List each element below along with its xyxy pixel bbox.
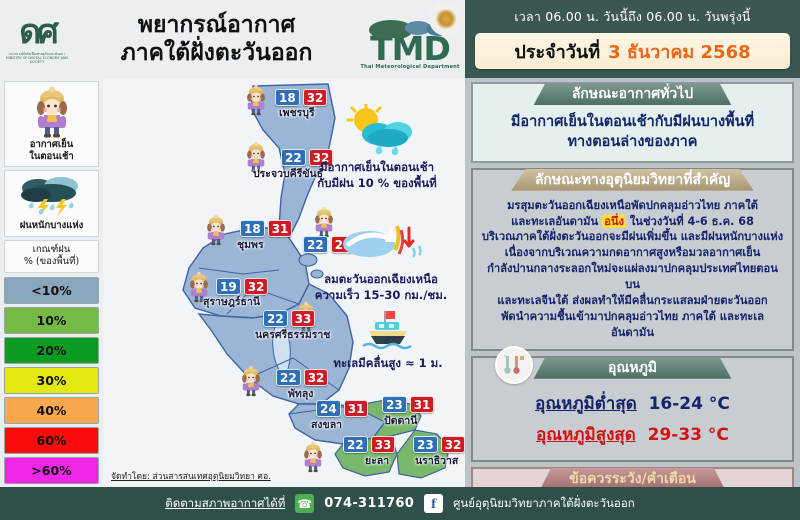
wind-arrow-icon <box>335 220 427 268</box>
temperature-min-row: อุณหภูมิต่ำสุด 16-24 °C <box>481 390 784 417</box>
general-weather-line1: มีอากาศเย็นในตอนเช้ากับมีฝนบางพื้นที่ <box>481 112 784 132</box>
forecast-date-band: ประจำวันที่ 3 ธันวาคม 2568 <box>475 33 790 69</box>
map-credit: จัดทำโดย: ส่วนสารสนเทศอุตุนิยมวิทยา ศอ. <box>111 469 271 483</box>
city-marker: 2233 <box>343 436 395 453</box>
legend-sidebar: อากาศเย็น ในตอนเช้า ฝนหนักบางแห่ง <box>0 78 103 487</box>
city-marker: 1831 <box>240 220 292 237</box>
temp-min-chip: 22 <box>343 436 368 453</box>
legend-swatch-4: 40% <box>4 397 99 424</box>
temp-max-chip: 33 <box>291 310 316 327</box>
date-value: 3 ธันวาคม 2568 <box>608 37 751 66</box>
header-date-area: เวลา 06.00 น. วันนี้ถึง 06.00 น. วันพรุ่… <box>465 0 800 78</box>
date-label: ประจำวันที่ <box>514 37 600 66</box>
general-weather-line2: ทางตอนล่างของภาค <box>481 132 784 152</box>
temperature-chips: 2233 <box>343 436 395 453</box>
temp-max-chip: 31 <box>410 396 435 413</box>
city-name-label: ชุมพร <box>237 236 264 253</box>
legend-swatch-2: 20% <box>4 337 99 364</box>
right-info-panel: ลักษณะอากาศทั่วไป มีอากาศเย็นในตอนเช้ากั… <box>465 78 800 487</box>
sky-note-line1: มีอากาศเย็นในตอนเช้า <box>291 160 463 176</box>
boat-icon <box>361 310 415 352</box>
city-marker: 2332 <box>413 436 465 453</box>
wind-note: ลมตะวันออกเฉียงเหนือ ความเร็ว 15-30 กม./… <box>299 220 463 303</box>
legend-heavy-rain: ฝนหนักบางแห่ง <box>4 170 99 237</box>
temperature-min-value: 16-24 °C <box>649 394 730 414</box>
meteorology-line-2: บริเวณภาคใต้ฝั่งตะวันออกจะมีฝนเพิ่มขึ้น … <box>481 229 784 245</box>
forecast-infographic: ดศ กระทรวงดิจิทัลเพื่อเศรษฐกิจและสังคม /… <box>0 0 800 520</box>
temperature-min-label: อุณหภูมิต่ำสุด <box>535 394 637 414</box>
temp-min-chip: 24 <box>316 400 341 417</box>
facebook-icon[interactable]: f <box>424 494 443 513</box>
page-title: พยากรณ์อากาศ ภาคใต้ฝั่งตะวันออก <box>74 11 355 67</box>
legend-cold-label-l2: ในตอนเช้า <box>7 151 96 163</box>
forecast-time-range: เวลา 06.00 น. วันนี้ถึง 06.00 น. วันพรุ่… <box>465 0 800 27</box>
legend-rain-label: ฝนหนักบางแห่ง <box>7 220 96 232</box>
temperature-body: อุณหภูมิต่ำสุด 16-24 °C อุณหภูมิสูงสุด 2… <box>473 380 792 460</box>
ministry-logo-subtitle: กระทรวงดิจิทัลเพื่อเศรษฐกิจและสังคม / MI… <box>3 52 71 64</box>
legend-scale-title: เกณฑ์ฝน % (ของพื้นที่) <box>4 240 99 274</box>
city-marker: 2431 <box>316 400 368 417</box>
temperature-chips: 2332 <box>413 436 465 453</box>
legend-swatch-6: >60% <box>4 457 99 484</box>
cold-girl-icon <box>300 440 326 474</box>
tmd-subtitle: Thai Meteorological Department <box>360 64 459 70</box>
meteorology-line-6: พัดนำความชื้นเข้ามาปกคลุมอ่าวไทย ภาคใต้ … <box>481 309 784 341</box>
temp-max-chip: 32 <box>441 436 465 453</box>
meteorology-line-5: และทะเลจีนใต้ ส่งผลทำให้มีคลื่นกระแสลมฝ่… <box>481 293 784 309</box>
legend-swatch-1: 10% <box>4 307 99 334</box>
meteorology-banner: ลักษณะทางอุตุนิยมวิทยาที่สำคัญ <box>511 169 753 191</box>
general-weather-panel: ลักษณะอากาศทั่วไป มีอากาศเย็นในตอนเช้ากั… <box>471 82 794 163</box>
temperature-panel: อุณหภูมิ อุณหภูมิต่ำสุด 16-24 °C อุณหภูม… <box>471 356 794 462</box>
temperature-chips: 2431 <box>316 400 368 417</box>
legend-scale-title-l2: % (ของพื้นที่) <box>5 256 98 268</box>
thunderstorm-icon <box>7 174 96 220</box>
tmd-logo: TMD Thai Meteorological Department <box>355 4 465 74</box>
footer-follow-label: ติดตามสภาพอากาศได้ที่ <box>165 495 285 513</box>
temp-min-chip: 23 <box>413 436 438 453</box>
city-name-label: นราธิวาส <box>415 452 458 469</box>
legend-cold-morning: อากาศเย็น ในตอนเช้า <box>4 81 99 167</box>
temperature-max-value: 29-33 °C <box>648 425 729 445</box>
ministry-logo-mark: ดศ <box>19 15 55 49</box>
temp-max-chip: 32 <box>304 369 329 386</box>
cold-girl-icon <box>203 213 229 247</box>
temp-min-chip: 22 <box>263 310 288 327</box>
legend-cold-label-l1: อากาศเย็น <box>7 139 96 151</box>
temp-max-chip: 31 <box>268 220 293 237</box>
city-name-label: สงขลา <box>311 416 342 433</box>
city-marker: 2232 <box>276 369 328 386</box>
general-weather-body: มีอากาศเย็นในตอนเช้ากับมีฝนบางพื้นที่ ทา… <box>473 106 792 161</box>
temperature-chips: 2331 <box>382 396 434 413</box>
footer-bar: ติดตามสภาพอากาศได้ที่ ☎ 074-311760 f ศูน… <box>0 487 800 520</box>
city-name-label: ยะลา <box>365 452 389 469</box>
sea-note-line1: ทะเลมีคลื่นสูง ≈ 1 ม. <box>313 356 463 372</box>
page-title-line2: ภาคใต้ฝั่งตะวันออก <box>78 39 355 67</box>
temperature-max-label: อุณหภูมิสูงสุด <box>536 425 636 445</box>
legend-scale-title-l1: เกณฑ์ฝน <box>5 244 98 256</box>
page-title-line1: พยากรณ์อากาศ <box>78 11 355 39</box>
ministry-logo: ดศ กระทรวงดิจิทัลเพื่อเศรษฐกิจและสังคม /… <box>0 2 74 76</box>
sea-note: ทะเลมีคลื่นสูง ≈ 1 ม. <box>313 310 463 372</box>
city-marker: 2233 <box>263 310 315 327</box>
legend-swatch-0: <10% <box>4 277 99 304</box>
cold-girl-icon <box>238 364 264 398</box>
cold-girl-icon <box>243 83 269 117</box>
meteorology-line-0: มรสุมตะวันออกเฉียงเหนือพัดปกคลุมอ่าวไทย … <box>481 198 784 214</box>
sun-cloud-rain-icon <box>332 104 422 156</box>
wind-note-line2: ความเร็ว 15-30 กม./ชม. <box>299 288 463 304</box>
tmd-sun-icon <box>429 2 463 36</box>
temperature-chips: 2232 <box>276 369 328 386</box>
meteorology-panel: ลักษณะทางอุตุนิยมวิทยาที่สำคัญ มรสุมตะวั… <box>471 168 794 351</box>
phone-icon: ☎ <box>295 494 314 513</box>
legend-swatch-5: 60% <box>4 427 99 454</box>
meteorology-line-1: และทะเลอันดามัน อนึ่ง ในช่วงวันที่ 4-6 ธ… <box>481 214 784 230</box>
sky-note: มีอากาศเย็นในตอนเช้า กับมีฝน 10 % ของพื้… <box>291 104 463 191</box>
temp-min-chip: 22 <box>276 369 301 386</box>
temp-max-chip: 31 <box>344 400 369 417</box>
temperature-banner: อุณหภูมิ <box>534 357 732 379</box>
temp-min-chip: 23 <box>382 396 407 413</box>
general-weather-banner: ลักษณะอากาศทั่วไป <box>534 83 732 105</box>
temp-min-chip: 18 <box>240 220 265 237</box>
temperature-max-row: อุณหภูมิสูงสุด 29-33 °C <box>481 421 784 448</box>
thermometer-icon <box>495 346 533 384</box>
wind-note-line1: ลมตะวันออกเฉียงเหนือ <box>299 272 463 288</box>
meteorology-body: มรสุมตะวันออกเฉียงเหนือพัดปกคลุมอ่าวไทย … <box>473 192 792 349</box>
header-bar: ดศ กระทรวงดิจิทัลเพื่อเศรษฐกิจและสังคม /… <box>0 0 465 78</box>
cold-girl-icon <box>7 85 96 139</box>
sky-note-line2: กับมีฝน 10 % ของพื้นที่ <box>291 176 463 192</box>
city-name-label: ปัตตานี <box>384 412 417 429</box>
legend-swatch-3: 30% <box>4 367 99 394</box>
legend-scale-list: <10%10%20%30%40%60%>60% <box>4 277 99 484</box>
forecast-map: 1832เพชรบุรี 2232ประจวบคีรีขันธ์ 1831ชุม… <box>103 78 465 487</box>
meteorology-line-4: กำลังปานกลางระลอกใหม่จะแผ่ลงมาปกคลุมประเ… <box>481 261 784 293</box>
temp-max-chip: 33 <box>371 436 396 453</box>
temperature-chips: 1831 <box>240 220 292 237</box>
meteorology-line-3: เนื่องจากบริเวณความกดอากาศสูงหรือมวลอากา… <box>481 245 784 261</box>
footer-facebook-name: ศูนย์อุตุนิยมวิทยาภาคใต้ฝั่งตะวันออก <box>453 495 635 513</box>
temperature-chips: 2233 <box>263 310 315 327</box>
city-marker: 2331 <box>382 396 434 413</box>
city-name-label: สุราษฎร์ธานี <box>203 293 260 310</box>
footer-phone: 074-311760 <box>324 496 414 511</box>
city-name-label: พัทลุง <box>288 385 313 402</box>
